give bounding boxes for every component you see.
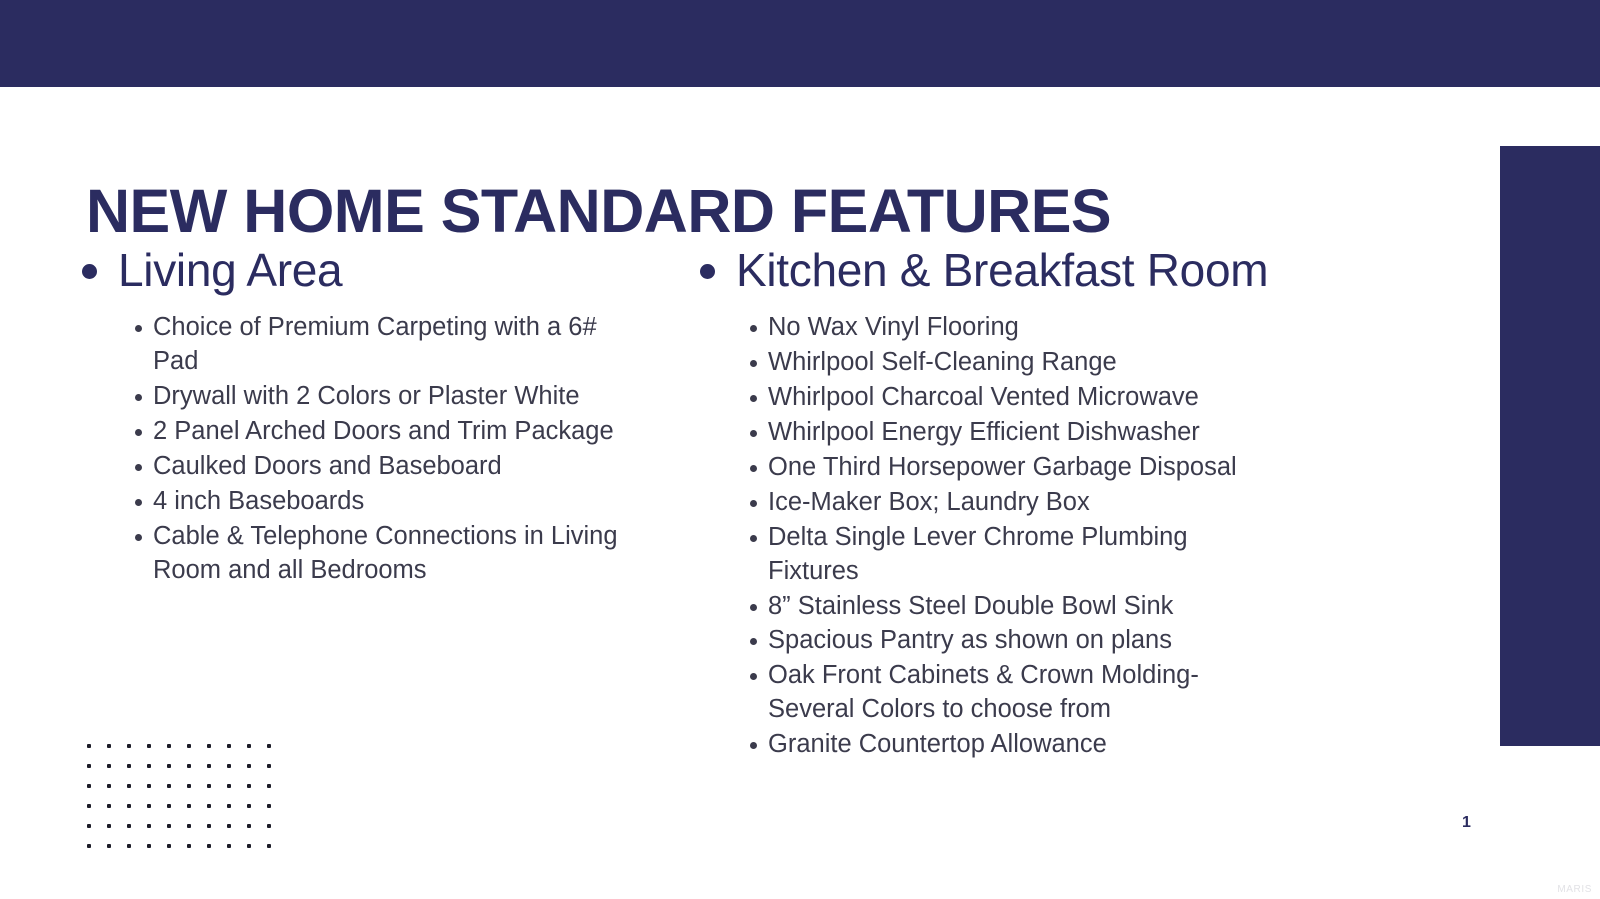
dot-icon xyxy=(267,804,271,808)
list-bullet-icon xyxy=(135,534,142,541)
dot-icon xyxy=(107,784,111,788)
list-item: Whirlpool Energy Efficient Dishwasher xyxy=(750,416,1430,450)
watermark-label: MARIS xyxy=(1557,884,1592,895)
list-item: 8” Stainless Steel Double Bowl Sink xyxy=(750,590,1430,624)
dot-icon xyxy=(107,804,111,808)
dot-icon xyxy=(207,824,211,828)
list-item: Caulked Doors and Baseboard xyxy=(135,450,682,484)
list-bullet-icon xyxy=(750,465,757,472)
right-accent-bar xyxy=(1500,146,1600,746)
list-item-label: Caulked Doors and Baseboard xyxy=(153,450,631,484)
section-title-label: Kitchen & Breakfast Room xyxy=(736,243,1268,297)
list-bullet-icon xyxy=(750,430,757,437)
page-number: 1 xyxy=(1462,814,1471,832)
list-bullet-icon xyxy=(750,604,757,611)
dot-icon xyxy=(147,844,151,848)
dot-icon xyxy=(207,784,211,788)
page-title: NEW HOME STANDARD FEATURES xyxy=(86,179,1111,243)
list-bullet-icon xyxy=(135,429,142,436)
list-bullet-icon xyxy=(750,638,757,645)
list-item-label: 8” Stainless Steel Double Bowl Sink xyxy=(768,590,1258,624)
dot-icon xyxy=(207,764,211,768)
list-bullet-icon xyxy=(750,742,757,749)
list-item-label: 2 Panel Arched Doors and Trim Package xyxy=(153,415,631,449)
list-item: Granite Countertop Allowance xyxy=(750,728,1430,762)
column-kitchen-breakfast-room: Kitchen & Breakfast Room No Wax Vinyl Fl… xyxy=(700,243,1430,763)
dot-icon xyxy=(167,844,171,848)
list-item-label: Whirlpool Self-Cleaning Range xyxy=(768,346,1258,380)
list-item-label: One Third Horsepower Garbage Disposal xyxy=(768,451,1258,485)
list-bullet-icon xyxy=(135,464,142,471)
dot-icon xyxy=(167,824,171,828)
dot-icon xyxy=(267,744,271,748)
dot-icon xyxy=(87,764,91,768)
dot-icon xyxy=(227,804,231,808)
dot-icon xyxy=(227,824,231,828)
dot-icon xyxy=(227,764,231,768)
dot-icon xyxy=(127,804,131,808)
list-item: Ice-Maker Box; Laundry Box xyxy=(750,486,1430,520)
list-item-label: Whirlpool Charcoal Vented Microwave xyxy=(768,381,1258,415)
dot-icon xyxy=(147,744,151,748)
dot-icon xyxy=(267,784,271,788)
section-heading-living-area: Living Area xyxy=(82,243,682,297)
dot-icon xyxy=(187,764,191,768)
list-item: Spacious Pantry as shown on plans xyxy=(750,624,1430,658)
list-item: Oak Front Cabinets & Crown Molding- Seve… xyxy=(750,659,1430,727)
list-item: 4 inch Baseboards xyxy=(135,485,682,519)
dot-icon xyxy=(147,784,151,788)
section-bullet-icon xyxy=(700,264,715,279)
list-bullet-icon xyxy=(135,325,142,332)
section-title-label: Living Area xyxy=(118,243,342,297)
dot-icon xyxy=(107,844,111,848)
feature-list-kitchen-breakfast-room: No Wax Vinyl Flooring Whirlpool Self-Cle… xyxy=(700,311,1430,762)
list-bullet-icon xyxy=(135,394,142,401)
dot-icon xyxy=(167,804,171,808)
dot-icon xyxy=(87,744,91,748)
list-bullet-icon xyxy=(750,395,757,402)
list-item: Cable & Telephone Connections in Living … xyxy=(135,520,682,588)
list-item-label: Whirlpool Energy Efficient Dishwasher xyxy=(768,416,1258,450)
top-banner xyxy=(0,0,1600,87)
dot-icon xyxy=(187,804,191,808)
dot-icon xyxy=(247,784,251,788)
list-item-label: Drywall with 2 Colors or Plaster White xyxy=(153,380,631,414)
list-item: 2 Panel Arched Doors and Trim Package xyxy=(135,415,682,449)
dot-icon xyxy=(267,844,271,848)
dot-icon xyxy=(127,844,131,848)
list-item-label: Choice of Premium Carpeting with a 6# Pa… xyxy=(153,311,631,379)
decorative-dot-grid xyxy=(87,744,287,864)
dot-icon xyxy=(187,844,191,848)
list-bullet-icon xyxy=(750,673,757,680)
list-item-label: 4 inch Baseboards xyxy=(153,485,631,519)
dot-icon xyxy=(267,764,271,768)
list-item-label: Granite Countertop Allowance xyxy=(768,728,1258,762)
section-bullet-icon xyxy=(82,264,97,279)
dot-icon xyxy=(87,844,91,848)
list-item-label: No Wax Vinyl Flooring xyxy=(768,311,1258,345)
dot-icon xyxy=(207,804,211,808)
dot-icon xyxy=(207,844,211,848)
dot-icon xyxy=(207,744,211,748)
dot-icon xyxy=(127,824,131,828)
feature-list-living-area: Choice of Premium Carpeting with a 6# Pa… xyxy=(82,311,682,587)
dot-icon xyxy=(107,744,111,748)
list-bullet-icon xyxy=(750,325,757,332)
dot-icon xyxy=(247,744,251,748)
list-item-label: Cable & Telephone Connections in Living … xyxy=(153,520,631,588)
dot-icon xyxy=(187,784,191,788)
content-columns: Living Area Choice of Premium Carpeting … xyxy=(0,243,1480,803)
dot-icon xyxy=(187,744,191,748)
list-bullet-icon xyxy=(750,360,757,367)
list-item-label: Delta Single Lever Chrome Plumbing Fixtu… xyxy=(768,521,1258,589)
dot-icon xyxy=(87,824,91,828)
list-bullet-icon xyxy=(135,499,142,506)
section-heading-kitchen-breakfast-room: Kitchen & Breakfast Room xyxy=(700,243,1430,297)
dot-icon xyxy=(167,784,171,788)
dot-icon xyxy=(147,824,151,828)
dot-icon xyxy=(267,824,271,828)
list-item-label: Ice-Maker Box; Laundry Box xyxy=(768,486,1258,520)
dot-icon xyxy=(247,804,251,808)
list-item-label: Oak Front Cabinets & Crown Molding- Seve… xyxy=(768,659,1258,727)
dot-icon xyxy=(107,824,111,828)
list-bullet-icon xyxy=(750,535,757,542)
dot-icon xyxy=(167,764,171,768)
dot-icon xyxy=(87,804,91,808)
dot-icon xyxy=(247,764,251,768)
dot-icon xyxy=(247,844,251,848)
list-item: One Third Horsepower Garbage Disposal xyxy=(750,451,1430,485)
list-item-label: Spacious Pantry as shown on plans xyxy=(768,624,1258,658)
list-item: Whirlpool Charcoal Vented Microwave xyxy=(750,381,1430,415)
dot-icon xyxy=(87,784,91,788)
list-bullet-icon xyxy=(750,500,757,507)
dot-icon xyxy=(127,764,131,768)
dot-icon xyxy=(227,744,231,748)
dot-icon xyxy=(167,744,171,748)
dot-icon xyxy=(107,764,111,768)
list-item: Choice of Premium Carpeting with a 6# Pa… xyxy=(135,311,682,379)
dot-icon xyxy=(227,784,231,788)
list-item: Delta Single Lever Chrome Plumbing Fixtu… xyxy=(750,521,1430,589)
dot-icon xyxy=(187,824,191,828)
dot-icon xyxy=(147,804,151,808)
list-item: No Wax Vinyl Flooring xyxy=(750,311,1430,345)
dot-icon xyxy=(127,744,131,748)
dot-icon xyxy=(147,764,151,768)
list-item: Whirlpool Self-Cleaning Range xyxy=(750,346,1430,380)
column-living-area: Living Area Choice of Premium Carpeting … xyxy=(82,243,682,589)
dot-icon xyxy=(227,844,231,848)
dot-icon xyxy=(127,784,131,788)
dot-icon xyxy=(247,824,251,828)
list-item: Drywall with 2 Colors or Plaster White xyxy=(135,380,682,414)
